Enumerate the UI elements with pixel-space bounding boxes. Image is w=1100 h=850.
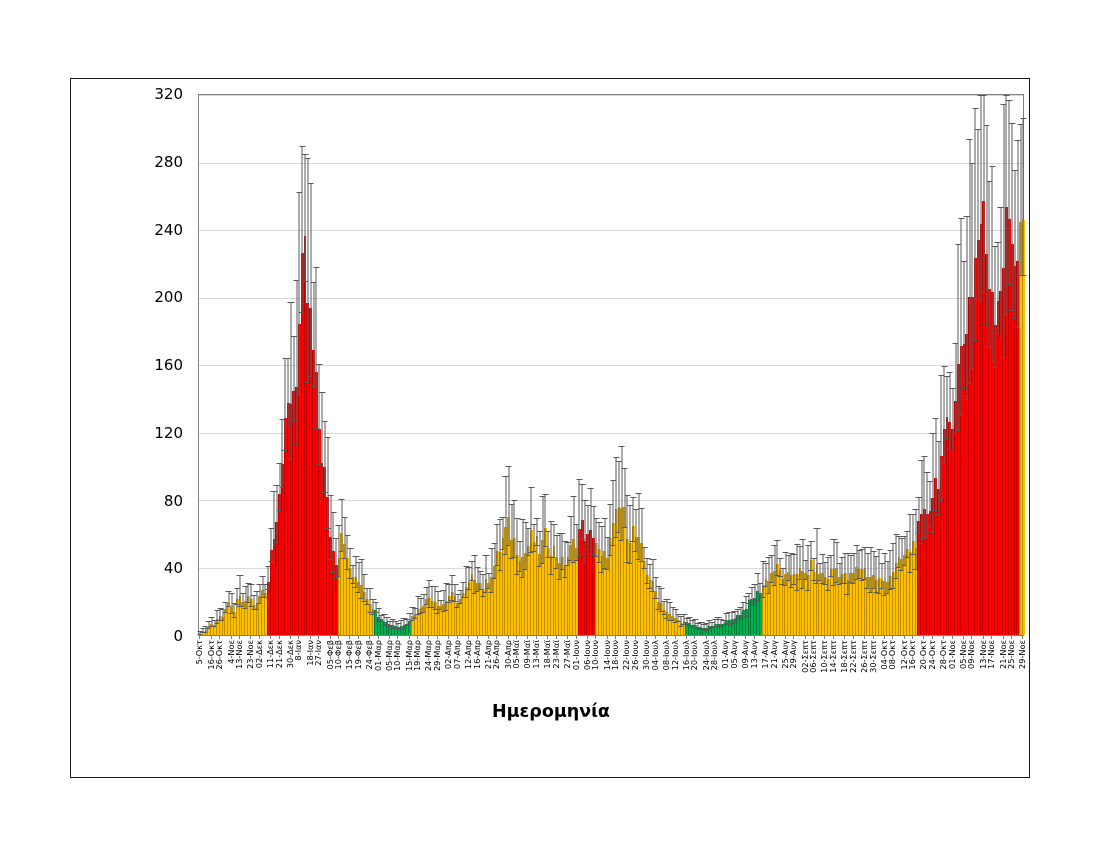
error-bar [381, 615, 382, 622]
error-bar [819, 563, 820, 582]
error-bar [593, 506, 594, 555]
error-bar [932, 433, 933, 532]
error-bar [828, 557, 829, 591]
error-bar [816, 528, 817, 584]
error-bar [859, 550, 860, 579]
error-bar [658, 586, 659, 610]
bar-series [199, 95, 1023, 635]
error-bar [429, 580, 430, 608]
error-bar [220, 608, 221, 620]
error-bar [901, 538, 902, 572]
error-bar [596, 518, 597, 556]
error-bar [607, 537, 608, 570]
error-bar [907, 531, 908, 559]
error-bar [553, 524, 554, 558]
error-bar [788, 555, 789, 581]
y-tick-label: 0 [173, 627, 183, 645]
error-bar [590, 488, 591, 554]
error-bar [271, 528, 272, 562]
error-bar [604, 518, 605, 569]
error-bar [997, 242, 998, 334]
error-bar [1014, 170, 1015, 319]
error-bar [333, 512, 334, 573]
y-tick-label: 40 [164, 559, 183, 577]
error-bar [865, 547, 866, 579]
error-bar [768, 557, 769, 594]
error-bar [228, 591, 229, 607]
error-bar [635, 509, 636, 552]
error-bar [938, 441, 939, 514]
error-bar [712, 622, 713, 628]
y-tick-label: 200 [154, 288, 183, 306]
error-bar [599, 522, 600, 563]
error-bar [893, 543, 894, 588]
error-bar [353, 565, 354, 584]
error-bar [930, 481, 931, 527]
error-bar [924, 456, 925, 539]
error-bar [726, 613, 727, 624]
error-bar [446, 583, 447, 611]
error-bar [799, 546, 800, 580]
error-bar [452, 575, 453, 601]
error-bar [915, 509, 916, 570]
y-tick-label: 80 [164, 492, 183, 510]
error-bar [505, 476, 506, 555]
error-bar [322, 392, 323, 502]
error-bar [254, 595, 255, 609]
error-bar [440, 600, 441, 611]
error-bar [307, 158, 308, 382]
error-bar [1006, 95, 1007, 316]
error-bar [814, 558, 815, 581]
error-bar [890, 550, 891, 589]
error-bar [774, 545, 775, 586]
error-bar [273, 491, 274, 564]
error-bar [367, 588, 368, 605]
error-bar [618, 461, 619, 533]
error-bar [904, 536, 905, 565]
error-bar [783, 568, 784, 585]
error-bar [652, 559, 653, 592]
x-tick-mark [1022, 635, 1023, 639]
error-bar [237, 588, 238, 605]
bar [1022, 220, 1025, 635]
error-bar [703, 624, 704, 630]
error-bar [585, 500, 586, 564]
error-bar [466, 566, 467, 597]
error-bar [910, 514, 911, 573]
error-bar [568, 542, 569, 566]
error-bar [884, 553, 885, 596]
error-bar [802, 539, 803, 589]
error-bar [330, 495, 331, 560]
error-bar [811, 541, 812, 571]
error-bar [825, 562, 826, 584]
error-bar [641, 508, 642, 562]
error-bar [975, 108, 976, 341]
error-bar [749, 593, 750, 605]
error-bar [463, 582, 464, 598]
error-bar [746, 596, 747, 617]
error-bar [986, 125, 987, 325]
error-bar [302, 146, 303, 313]
error-bar [1009, 100, 1010, 285]
error-bar [534, 524, 535, 552]
error-bar [525, 522, 526, 569]
error-bar [791, 553, 792, 588]
error-bar [310, 183, 311, 376]
error-bar [867, 553, 868, 589]
error-bar [961, 218, 962, 416]
error-bar [217, 610, 218, 624]
y-axis-tick-labels: 04080120160200240280320 [71, 94, 191, 636]
error-bar [483, 574, 484, 597]
error-bar [225, 602, 226, 613]
error-bar [296, 280, 297, 446]
error-bar [299, 192, 300, 396]
x-tick-slot: 29-Νοε [1021, 639, 1024, 697]
error-bar [435, 586, 436, 610]
error-bar [842, 557, 843, 585]
error-bar [941, 375, 942, 502]
error-bar [754, 584, 755, 606]
error-bar [630, 505, 631, 564]
error-bar [556, 535, 557, 570]
x-axis-title: Ημερομηνία [71, 697, 1031, 727]
error-bar [491, 548, 492, 594]
error-bar [870, 547, 871, 593]
error-bar [737, 609, 738, 620]
y-tick-label: 280 [154, 153, 183, 171]
error-bar [288, 358, 289, 428]
error-bar [500, 519, 501, 571]
error-bar [1003, 104, 1004, 357]
error-bar [268, 566, 269, 589]
error-bar [256, 591, 257, 611]
error-bar [276, 485, 277, 544]
y-tick-label: 240 [154, 221, 183, 239]
error-bar [582, 484, 583, 540]
x-axis-tick-labels: 5-Οκτ16-Οκτ26-Οκτ4-Νοε13-Νοε23-Νοε02-Δεκ… [198, 639, 1024, 697]
error-bar [797, 544, 798, 591]
error-bar [358, 562, 359, 594]
error-bar [831, 555, 832, 576]
error-bar [443, 590, 444, 612]
error-bar [245, 586, 246, 609]
error-bar [839, 563, 840, 584]
error-bar [616, 457, 617, 539]
error-bar [432, 586, 433, 608]
error-bar [259, 584, 260, 604]
error-bar [613, 480, 614, 546]
error-bar [341, 499, 342, 551]
error-bar [517, 518, 518, 575]
error-bar [955, 343, 956, 433]
error-bar [624, 468, 625, 528]
error-bar [763, 561, 764, 598]
y-tick-label: 120 [154, 424, 183, 442]
error-bar [293, 336, 294, 421]
error-bar [947, 376, 948, 440]
error-bar [944, 366, 945, 464]
error-bar [650, 564, 651, 589]
y-tick-label: 160 [154, 356, 183, 374]
error-bar [881, 563, 882, 588]
error-bar [242, 593, 243, 606]
error-bar [370, 588, 371, 613]
error-bar [913, 514, 914, 555]
error-bar [751, 587, 752, 606]
error-bar [989, 181, 990, 348]
error-bar [848, 553, 849, 595]
error-bar [361, 559, 362, 598]
error-bar [992, 166, 993, 361]
error-bar [876, 556, 877, 593]
error-bar [474, 555, 475, 593]
error-bar [223, 609, 224, 621]
error-bar [808, 545, 809, 591]
error-bar [471, 561, 472, 581]
error-bar [969, 139, 970, 384]
error-bar [542, 496, 543, 564]
x-tick-label: 29-Νοε [1018, 640, 1026, 669]
error-bar [980, 95, 981, 302]
error-bar [958, 244, 959, 431]
error-bar [805, 560, 806, 580]
error-bar [536, 518, 537, 546]
error-bar [494, 543, 495, 579]
error-bar [602, 526, 603, 573]
error-bar [573, 496, 574, 563]
error-bar [511, 504, 512, 559]
plot-area [198, 94, 1024, 636]
chart-figure: Σχετικός Ρυθμός Έκκρισης Ιικού Φορτίου 0… [70, 78, 1030, 778]
error-bar [952, 388, 953, 452]
error-bar [771, 555, 772, 583]
error-bar [519, 541, 520, 572]
error-bar [539, 531, 540, 568]
error-bar [488, 573, 489, 589]
error-bar [426, 587, 427, 605]
error-bar [743, 602, 744, 614]
error-bar [305, 154, 306, 281]
error-bar [319, 364, 320, 464]
error-bar [655, 577, 656, 599]
error-bar [935, 418, 936, 512]
error-bar [469, 567, 470, 590]
error-bar [412, 607, 413, 621]
error-bar [579, 479, 580, 556]
error-bar [234, 603, 235, 617]
error-bar [918, 497, 919, 534]
error-bar [248, 583, 249, 603]
error-bar [548, 531, 549, 557]
error-bar [850, 555, 851, 582]
error-bar [570, 516, 571, 561]
error-bar [285, 358, 286, 451]
error-bar [633, 497, 634, 541]
error-bar [503, 517, 504, 550]
error-bar [964, 261, 965, 389]
error-bar [350, 548, 351, 579]
error-bar [290, 302, 291, 460]
error-bar [316, 267, 317, 429]
error-bar [336, 538, 337, 579]
error-bar [559, 533, 560, 580]
error-bar [389, 621, 390, 627]
error-bar [313, 282, 314, 387]
error-bar [794, 554, 795, 585]
error-bar [497, 524, 498, 566]
error-bar [262, 576, 263, 598]
error-bar [669, 602, 670, 621]
error-bar [661, 588, 662, 611]
error-bar [457, 594, 458, 608]
bar-column [1022, 95, 1025, 635]
error-bar [686, 618, 687, 625]
error-bar [610, 504, 611, 556]
error-bar [551, 521, 552, 575]
error-bar [327, 437, 328, 530]
error-bar [437, 591, 438, 614]
error-bar [1020, 124, 1021, 277]
error-bar [949, 372, 950, 450]
error-bar [966, 216, 967, 400]
error-bar [681, 616, 682, 627]
error-bar [978, 129, 979, 300]
error-bar [647, 558, 648, 584]
error-bar [1012, 123, 1013, 311]
error-bar [324, 421, 325, 493]
error-bar [689, 617, 690, 626]
error-bar [1000, 207, 1001, 338]
error-bar [862, 549, 863, 581]
error-bar [562, 533, 563, 570]
error-bar [1017, 140, 1018, 329]
error-bar [995, 246, 996, 368]
error-bar [845, 553, 846, 584]
error-bar [921, 460, 922, 544]
error-bar [898, 536, 899, 568]
error-bar [514, 500, 515, 558]
error-bar [531, 487, 532, 553]
error-bar [896, 534, 897, 579]
error-bar [638, 493, 639, 560]
error-bar [545, 494, 546, 547]
error-bar [282, 419, 283, 488]
error-bar [833, 539, 834, 587]
y-tick-label: 320 [154, 85, 183, 103]
error-bar [240, 575, 241, 607]
error-bar [664, 601, 665, 615]
error-bar [565, 541, 566, 578]
error-bar [822, 554, 823, 584]
error-bar [265, 584, 266, 598]
error-bar [347, 535, 348, 570]
error-bar [508, 466, 509, 545]
error-bar [587, 505, 588, 550]
error-bar [344, 517, 345, 559]
error-bar [1023, 118, 1024, 276]
error-bar [415, 608, 416, 619]
error-bar [766, 563, 767, 587]
